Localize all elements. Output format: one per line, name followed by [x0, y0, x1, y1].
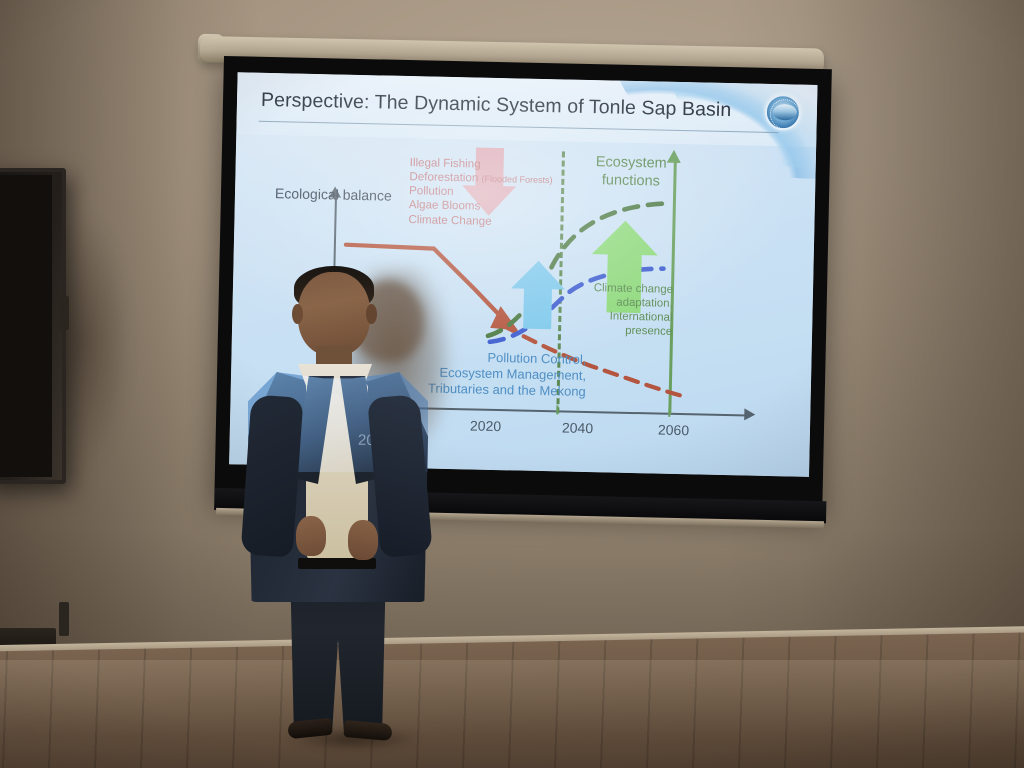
presenter-hand-right [348, 520, 378, 560]
green-arrow-head [592, 220, 659, 255]
presenter-hand-left [296, 516, 326, 556]
threat-sub-note: (Flooded Forests) [481, 174, 552, 186]
photo-scene: Perspective: The Dynamic System of Tonle… [0, 0, 1024, 768]
display-bracket-upper [59, 296, 69, 330]
x-tick-label-2020: 2020 [470, 417, 501, 434]
presenter: 1980 2000 [240, 272, 450, 742]
label-ecosystem-functions: Ecosystem functions [573, 154, 689, 192]
label-green-note: Climate change adaptation, International… [562, 281, 673, 339]
blue-arrow-head [511, 260, 566, 289]
display-bracket-lower [59, 602, 69, 636]
display-cast-shadow [56, 176, 176, 506]
presenter-ear-left [292, 304, 303, 324]
label-ecosystem-line-2: functions [573, 171, 688, 191]
x-tick-label-2040: 2040 [562, 419, 593, 436]
presenter-ear-right [366, 304, 377, 324]
presenter-arm-left [240, 394, 303, 557]
label-threats-list: Illegal Fishing Deforestation (Flooded F… [408, 156, 553, 230]
label-ecological-balance: Ecological balance [275, 185, 392, 205]
blue-arrow-stem [523, 287, 552, 330]
x-tick-label-2060: 2060 [658, 422, 689, 439]
wall-mounted-display [0, 168, 66, 484]
wood-floor [0, 631, 1024, 768]
green-note-line: presence [562, 323, 672, 339]
display-panel [0, 175, 52, 477]
threat-label: Deforestation [409, 170, 478, 185]
presenter-head [298, 272, 370, 356]
